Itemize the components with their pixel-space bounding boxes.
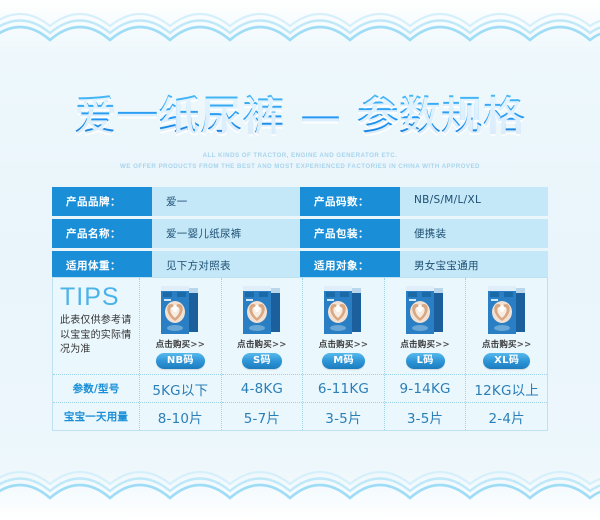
page-title: 爱一纸尿裤 — 参数规格: [0, 92, 600, 140]
specification-table: 产品品牌： 爱一 产品码数： NB/S/M/L/XL 产品名称： 爱一婴儿纸尿裤…: [52, 187, 548, 280]
buy-text: 点击购买: [482, 340, 517, 350]
size-badge-xl[interactable]: XL码: [483, 353, 530, 370]
size-column-l: 点击购买>> L码 9-14KG 3-5片: [385, 278, 467, 430]
spec-row: 产品名称： 爱一婴儿纸尿裤 产品包装： 便携装: [52, 219, 548, 248]
spec-row: 适用体重： 见下方对照表 适用对象： 男女宝宝通用: [52, 251, 548, 280]
daily-value-xl: 2-4片: [466, 402, 547, 430]
spec-value-packaging: 便携装: [400, 219, 548, 248]
buy-arrows: >>: [435, 340, 450, 350]
wave-border-top-icon: [0, 8, 600, 50]
diaper-box-icon: [157, 284, 203, 338]
weight-value-l: 9-14KG: [385, 374, 466, 402]
size-column-xl: 点击购买>> XL码 12KG以上 2-4片: [466, 278, 547, 430]
tips-title: TIPS: [60, 285, 133, 310]
spec-value-name: 爱一婴儿纸尿裤: [152, 219, 300, 248]
size-grid: TIPS 此表仅供参考请以宝宝的实际情况为准 参数/型号 宝宝一天用量: [53, 278, 547, 430]
spec-label-sizes: 产品码数：: [300, 187, 400, 216]
subtitle-line-2: WE OFFER PRODUCTS FROM THE BEST AND MOST…: [0, 162, 600, 173]
spec-label-packaging: 产品包装：: [300, 219, 400, 248]
spec-label-audience: 适用对象：: [300, 251, 400, 280]
weight-value-s: 4-8KG: [222, 374, 303, 402]
buy-label-s: 点击购买>>: [237, 341, 286, 350]
daily-value-l: 3-5片: [385, 402, 466, 430]
buy-text: 点击购买: [237, 340, 272, 350]
size-column-m: 点击购买>> M码 6-11KG 3-5片: [303, 278, 385, 430]
diaper-box-icon: [239, 284, 285, 338]
tips-text: 此表仅供参考请以宝宝的实际情况为准: [60, 314, 133, 358]
spec-label-weight: 适用体重：: [52, 251, 152, 280]
size-column-s: 点击购买>> S码 4-8KG 5-7片: [222, 278, 304, 430]
buy-text: 点击购买: [319, 340, 354, 350]
buy-arrows: >>: [272, 340, 287, 350]
diaper-box-icon: [484, 284, 530, 338]
size-badge-l[interactable]: L码: [406, 353, 445, 370]
row-label-daily-usage: 宝宝一天用量: [53, 402, 139, 430]
buy-arrows: >>: [517, 340, 532, 350]
product-cell-m[interactable]: 点击购买>> M码: [303, 278, 384, 374]
size-badge-s[interactable]: S码: [242, 353, 282, 370]
spec-value-brand: 爱一: [152, 187, 300, 216]
tips-column: TIPS 此表仅供参考请以宝宝的实际情况为准 参数/型号 宝宝一天用量: [53, 278, 140, 430]
buy-label-m: 点击购买>>: [319, 341, 368, 350]
spec-value-weight: 见下方对照表: [152, 251, 300, 280]
daily-value-nb: 8-10片: [140, 402, 221, 430]
product-cell-xl[interactable]: 点击购买>> XL码: [466, 278, 547, 374]
buy-arrows: >>: [354, 340, 369, 350]
buy-label-l: 点击购买>>: [400, 341, 449, 350]
row-label-spec: 参数/型号: [53, 374, 139, 402]
diaper-box-icon: [320, 284, 366, 338]
spec-value-sizes: NB/S/M/L/XL: [400, 187, 548, 216]
buy-label-xl: 点击购买>>: [482, 341, 531, 350]
diaper-box-icon: [402, 284, 448, 338]
buy-arrows: >>: [190, 340, 205, 350]
weight-value-m: 6-11KG: [303, 374, 384, 402]
buy-label-nb: 点击购买>>: [156, 341, 205, 350]
product-cell-l[interactable]: 点击购买>> L码: [385, 278, 466, 374]
product-cell-nb[interactable]: 点击购买>> NB码: [140, 278, 221, 374]
weight-value-nb: 5KG以下: [140, 374, 221, 402]
product-cell-s[interactable]: 点击购买>> S码: [222, 278, 303, 374]
size-comparison-table: TIPS 此表仅供参考请以宝宝的实际情况为准 参数/型号 宝宝一天用量: [52, 277, 548, 431]
weight-value-xl: 12KG以上: [466, 374, 547, 402]
subtitle-line-1: ALL KINDS OF TRACTOR, ENGINE AND GENERAT…: [0, 151, 600, 162]
spec-label-name: 产品名称：: [52, 219, 152, 248]
page-root: 爱一纸尿裤 — 参数规格 ALL KINDS OF TRACTOR, ENGIN…: [0, 0, 600, 520]
size-badge-m[interactable]: M码: [322, 353, 365, 370]
buy-text: 点击购买: [156, 340, 191, 350]
daily-value-s: 5-7片: [222, 402, 303, 430]
spec-label-brand: 产品品牌：: [52, 187, 152, 216]
buy-text: 点击购买: [400, 340, 435, 350]
tips-block: TIPS 此表仅供参考请以宝宝的实际情况为准: [53, 278, 139, 374]
size-column-nb: 点击购买>> NB码 5KG以下 8-10片: [140, 278, 222, 430]
wave-border-bottom-icon: [0, 466, 600, 508]
subtitle-english: ALL KINDS OF TRACTOR, ENGINE AND GENERAT…: [0, 151, 600, 173]
title-block: 爱一纸尿裤 — 参数规格 ALL KINDS OF TRACTOR, ENGIN…: [0, 92, 600, 173]
daily-value-m: 3-5片: [303, 402, 384, 430]
size-badge-nb[interactable]: NB码: [156, 353, 205, 370]
spec-row: 产品品牌： 爱一 产品码数： NB/S/M/L/XL: [52, 187, 548, 216]
spec-value-audience: 男女宝宝通用: [400, 251, 548, 280]
